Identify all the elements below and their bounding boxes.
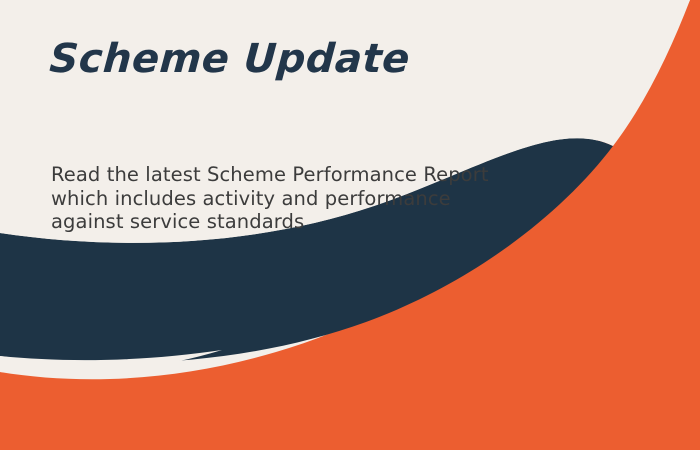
banner-description: Read the latest Scheme Performance Repor… [51, 163, 571, 234]
page-title: Scheme Update [48, 36, 412, 82]
banner-content: Scheme Update Read the latest Scheme Per… [0, 0, 700, 450]
description-line-2: which includes activity and performance [51, 187, 571, 211]
scheme-update-banner: Scheme Update Read the latest Scheme Per… [0, 0, 700, 450]
description-line-3: against service standards [51, 210, 571, 234]
description-line-1: Read the latest Scheme Performance Repor… [51, 163, 571, 187]
